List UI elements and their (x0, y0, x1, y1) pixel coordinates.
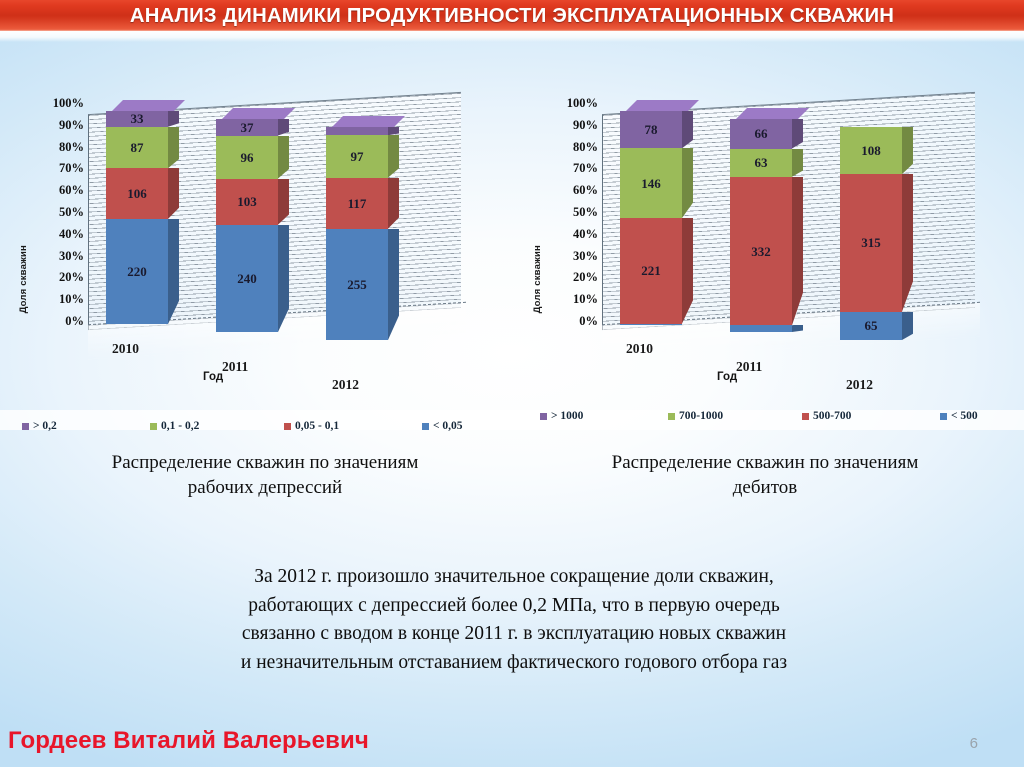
bar-value-label: 240 (237, 272, 257, 285)
y-tick-label: 30% (59, 251, 84, 261)
y-tick-label: 70% (59, 163, 84, 173)
slide-footer: Гордеев Виталий Валерьевич 6 (0, 713, 1024, 767)
legend-swatch-icon (540, 413, 547, 420)
legend-flow-rates: > 1000700-1000500-700< 500 (540, 408, 1024, 424)
bar-value-label: 96 (241, 151, 254, 164)
bar-value-label: 65 (865, 319, 878, 332)
legend-item[interactable]: < 500 (940, 410, 978, 422)
bar-top-face (112, 100, 185, 111)
legend-swatch-icon (940, 413, 947, 420)
slide-canvas: АНАЛИЗ ДИНАМИКИ ПРОДУКТИВНОСТИ ЭКСПЛУАТА… (0, 0, 1024, 767)
bar-segment[interactable]: 63 (730, 149, 792, 177)
legend-label: > 0,2 (33, 420, 57, 432)
y-tick-label: 0% (65, 316, 84, 326)
bar-segment[interactable]: 255 (326, 229, 388, 340)
legend-item[interactable]: < 0,05 (422, 420, 463, 432)
legend-label: > 1000 (551, 410, 583, 422)
bar-top-face (626, 100, 699, 111)
legend-swatch-icon (802, 413, 809, 420)
bar-value-label: 117 (348, 197, 367, 210)
y-tick-label: 60% (573, 185, 598, 195)
y-axis-tick-labels: 100%90%80%70%60%50%40%30%20%10%0% (36, 99, 84, 321)
bar-segment[interactable]: 97 (326, 135, 388, 177)
body-line-3: связанно с вводом в конце 2011 г. в эксп… (108, 620, 920, 649)
bar-value-label: 66 (755, 127, 768, 140)
bar-value-label: 63 (755, 156, 768, 169)
y-axis-title: Доля скважин (532, 245, 543, 313)
bar-top-face (736, 108, 809, 119)
x-tick-label: 2011 (736, 359, 762, 375)
bar-segment[interactable]: 117 (326, 178, 388, 229)
y-tick-label: 60% (59, 185, 84, 195)
legend-item[interactable]: 700-1000 (668, 410, 723, 422)
y-tick-label: 10% (59, 294, 84, 304)
x-tick-label: 2011 (222, 359, 248, 375)
bar-segment[interactable]: 332 (730, 177, 792, 326)
y-axis-tick-labels: 100%90%80%70%60%50%40%30%20%10%0% (550, 99, 598, 321)
bar-value-label: 255 (347, 278, 367, 291)
legend-swatch-icon (668, 413, 675, 420)
body-paragraph: За 2012 г. произошло значительное сокращ… (108, 563, 920, 677)
bar-value-label: 220 (127, 265, 147, 278)
y-tick-label: 40% (573, 229, 598, 239)
y-tick-label: 90% (59, 120, 84, 130)
bar-value-label: 146 (641, 177, 661, 190)
x-tick-label: 2012 (332, 377, 359, 393)
bar-segment[interactable]: 315 (840, 174, 902, 311)
bar-segment[interactable]: 106 (106, 168, 168, 219)
y-tick-label: 80% (59, 142, 84, 152)
bar-value-label: 87 (131, 141, 144, 154)
legend-label: 500-700 (813, 410, 851, 422)
legend-label: 0,1 - 0,2 (161, 420, 199, 432)
legend-swatch-icon (422, 423, 429, 430)
caption-right-line2: дебитов (525, 475, 1005, 500)
slide-title-bar: АНАЛИЗ ДИНАМИКИ ПРОДУКТИВНОСТИ ЭКСПЛУАТА… (0, 0, 1024, 31)
legend-item[interactable]: 500-700 (802, 410, 851, 422)
y-tick-label: 50% (59, 207, 84, 217)
body-line-1: За 2012 г. произошло значительное сокращ… (108, 563, 920, 592)
x-tick-label: 2010 (112, 341, 139, 357)
bar-segment[interactable]: 108 (840, 127, 902, 174)
bar-segment[interactable] (730, 325, 792, 332)
page-number: 6 (970, 735, 978, 752)
bar-segment[interactable] (326, 127, 388, 135)
bar-value-label: 37 (241, 121, 254, 134)
chart-flow-rates: Доля скважин 100%90%80%70%60%50%40%30%20… (532, 95, 1022, 395)
bar-value-label: 332 (751, 245, 771, 258)
caption-left: Распределение скважин по значениям рабоч… (30, 450, 500, 500)
x-axis-title: Год (203, 371, 223, 383)
bar-2012[interactable]: 10831565 (840, 127, 902, 340)
bar-segment[interactable]: 33 (106, 111, 168, 127)
bar-segment[interactable]: 240 (216, 225, 278, 332)
bar-segment[interactable]: 65 (840, 312, 902, 340)
bar-value-label: 33 (131, 112, 144, 125)
y-tick-label: 50% (573, 207, 598, 217)
legend-item[interactable]: > 1000 (540, 410, 583, 422)
author-name: Гордеев Виталий Валерьевич (8, 727, 369, 755)
caption-left-line2: рабочих депрессий (30, 475, 500, 500)
legend-item[interactable]: 0,05 - 0,1 (284, 420, 339, 432)
x-tick-label: 2010 (626, 341, 653, 357)
bar-2010[interactable]: 78146221 (620, 111, 682, 324)
y-tick-label: 20% (59, 272, 84, 282)
y-tick-label: 70% (573, 163, 598, 173)
legend-item[interactable]: 0,1 - 0,2 (150, 420, 199, 432)
caption-right: Распределение скважин по значениям дебит… (525, 450, 1005, 500)
y-tick-label: 30% (573, 251, 598, 261)
bar-2011[interactable]: 3796103240 (216, 119, 278, 332)
x-tick-label: 2012 (846, 377, 873, 393)
bar-segment[interactable]: 96 (216, 136, 278, 179)
bar-segment[interactable]: 37 (216, 119, 278, 136)
legend-label: < 500 (951, 410, 978, 422)
y-tick-label: 80% (573, 142, 598, 152)
y-tick-label: 10% (573, 294, 598, 304)
y-tick-label: 90% (573, 120, 598, 130)
y-tick-label: 0% (579, 316, 598, 326)
bar-2011[interactable]: 6663332 (730, 119, 792, 332)
bar-value-label: 106 (127, 187, 147, 200)
bar-top-face (222, 108, 295, 119)
y-tick-label: 100% (53, 98, 84, 108)
bar-segment[interactable]: 66 (730, 119, 792, 149)
body-line-2: работающих с депрессией более 0,2 МПа, ч… (108, 592, 920, 621)
x-axis-title: Год (717, 371, 737, 383)
legend-depressions: > 0,20,1 - 0,20,05 - 0,1< 0,05 (22, 418, 514, 434)
caption-left-line1: Распределение скважин по значениям (30, 450, 500, 475)
bar-value-label: 315 (861, 236, 881, 249)
bar-value-label: 97 (351, 150, 364, 163)
bar-segment[interactable]: 220 (106, 219, 168, 324)
legend-swatch-icon (22, 423, 29, 430)
chart-depressions: Доля скважин 100%90%80%70%60%50%40%30%20… (18, 95, 508, 395)
bar-value-label: 103 (237, 195, 257, 208)
y-tick-label: 40% (59, 229, 84, 239)
bar-value-label: 221 (641, 264, 661, 277)
legend-swatch-icon (150, 423, 157, 430)
bar-segment[interactable]: 78 (620, 111, 682, 148)
legend-label: 0,05 - 0,1 (295, 420, 339, 432)
bar-2012[interactable]: 97117255 (326, 127, 388, 340)
legend-swatch-icon (284, 423, 291, 430)
body-line-4: и незначительным отставанием фактическог… (108, 649, 920, 678)
y-axis-title: Доля скважин (18, 245, 29, 313)
caption-right-line1: Распределение скважин по значениям (525, 450, 1005, 475)
bar-top-face (332, 116, 405, 127)
y-tick-label: 20% (573, 272, 598, 282)
slide-title: АНАЛИЗ ДИНАМИКИ ПРОДУКТИВНОСТИ ЭКСПЛУАТА… (130, 4, 894, 28)
bar-segment[interactable]: 146 (620, 148, 682, 218)
bar-value-label: 108 (861, 144, 881, 157)
bar-2010[interactable]: 3387106220 (106, 111, 168, 324)
legend-label: < 0,05 (433, 420, 463, 432)
bar-segment[interactable]: 103 (216, 179, 278, 225)
y-tick-label: 100% (567, 98, 598, 108)
bar-segment[interactable]: 221 (620, 218, 682, 324)
legend-item[interactable]: > 0,2 (22, 420, 57, 432)
legend-label: 700-1000 (679, 410, 723, 422)
bar-segment[interactable]: 87 (106, 127, 168, 169)
bar-value-label: 78 (645, 123, 658, 136)
